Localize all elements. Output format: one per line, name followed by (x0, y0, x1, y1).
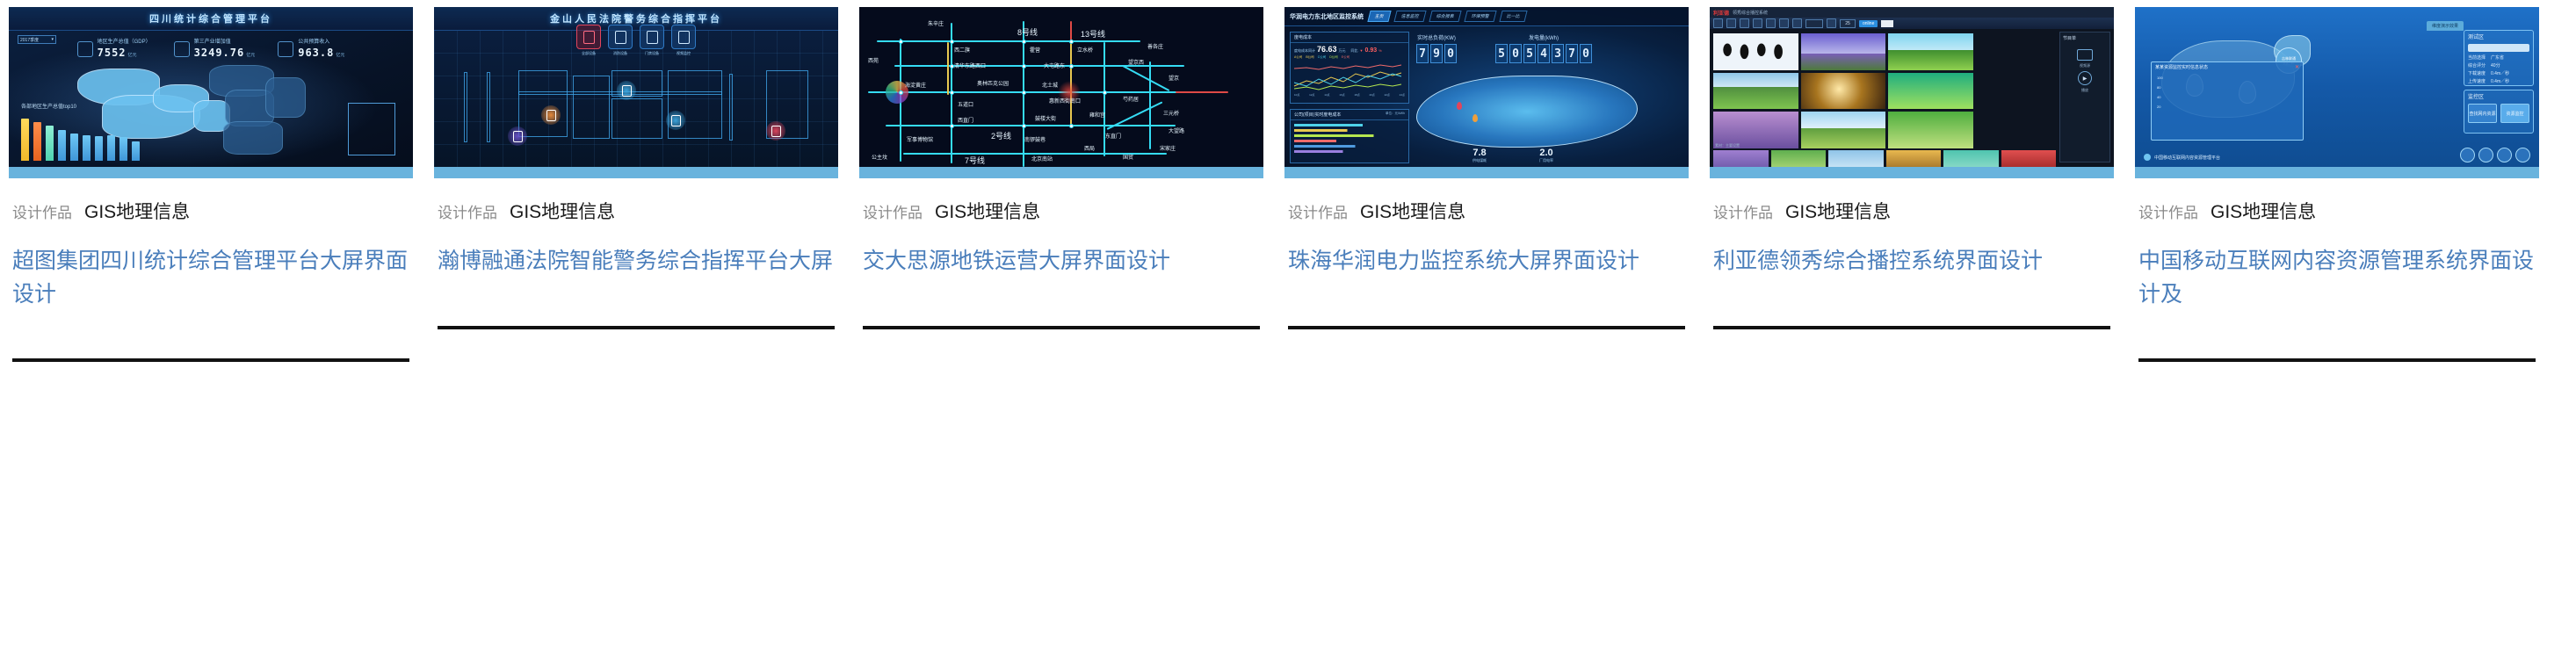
station-label: 三元桥 (1163, 109, 1179, 117)
tab-compare[interactable]: 比一比 (1499, 11, 1527, 22)
province-south (223, 121, 283, 155)
card-title-link[interactable]: 利亚德领秀综合播控系统界面设计 (1713, 245, 2110, 278)
dashboard-title: 金山人民法院警务综合指挥平台 (550, 11, 722, 25)
card-caption: 设计作品 GIS地理信息 中国移动互联网内容资源管理系统界面设计及 (2135, 178, 2539, 362)
station-label: 清华东路西口 (954, 61, 986, 69)
bar (95, 136, 103, 161)
metro-operations-map: 朱辛庄 8号线 13号线 西二旗 霍营 立水桥 善各庄 西苑 清华东路西口 大屯… (859, 7, 1263, 178)
bar (107, 135, 115, 161)
province-east (265, 77, 306, 118)
station-dot (950, 90, 954, 95)
card-category-label[interactable]: GIS地理信息 (1360, 198, 1465, 224)
kpi-gdp-value: 7552 (98, 47, 127, 59)
help-button[interactable] (2515, 148, 2530, 162)
x-tick: 12点 (1309, 93, 1314, 97)
progress-bar (1294, 140, 1405, 142)
kpi-budget-label: 公共预算收入 (298, 37, 344, 45)
filter-all-devices[interactable]: 全部设备 (576, 25, 601, 49)
map-pin (1457, 102, 1462, 110)
station-label: 西局 (1084, 144, 1095, 152)
video-tile-green[interactable] (1888, 112, 1973, 148)
station-label: 国贸 (1123, 153, 1133, 161)
bar (83, 135, 90, 161)
resource-monitor-label: 资源监控 (2506, 111, 2523, 117)
station-label: 雍和宫 (1089, 111, 1105, 119)
power-dashboard-title: 华润电力东北地区监控系统 (1290, 12, 1364, 21)
bar (132, 141, 140, 161)
kpi-generation: 发电量(kWh) 505 4370 (1495, 33, 1592, 63)
row-label: 下载速度 (2468, 70, 2486, 76)
realtime-panel-title: 公司(项目)实时度电成本 (1294, 112, 1341, 118)
cmcc-content-resource-system: 维度演示效果 吉林联通 节点：6C 某某资源监控实时信息状态 ✕ (2135, 7, 2539, 178)
card-divider (863, 326, 1260, 329)
node-manage-button[interactable] (2478, 148, 2493, 162)
card-caption: 设计作品 GIS地理信息 利亚德领秀综合播控系统界面设计 (1710, 178, 2114, 329)
camera-marker[interactable] (508, 126, 527, 146)
cost-delta-unit: % (1378, 48, 1382, 53)
filter-fire-devices[interactable]: 消防设备 (608, 25, 633, 49)
card-kind-label: 设计作品 (863, 200, 923, 222)
project-thumbnail[interactable]: 利亚德 领秀综合播控系统 25 online (1710, 7, 2114, 178)
gdp-icon (77, 41, 93, 57)
card-kind-label: 设计作品 (438, 200, 497, 222)
bar-chart-caption: 各部地区生产总值top10 (21, 102, 76, 110)
station-dot (899, 90, 903, 95)
tab-home[interactable]: 主页 (1367, 11, 1391, 22)
door-access-icon (647, 31, 658, 44)
video-tile-mountain[interactable] (1713, 73, 1798, 110)
x-tick: 14点 (1324, 93, 1329, 97)
station-dot (950, 124, 954, 128)
card-caption: 设计作品 GIS地理信息 瀚博融通法院智能警务综合指挥平台大屏 (434, 178, 838, 329)
bar (70, 134, 78, 161)
station-label: 海淀黄庄 (905, 81, 926, 89)
export-icon[interactable] (1766, 18, 1776, 28)
fire-extinguisher-marker-2[interactable] (666, 111, 685, 130)
x-tick: 24点 (1400, 93, 1405, 97)
station-dot (1069, 40, 1074, 44)
station-dot (1069, 124, 1074, 128)
bar (33, 122, 41, 161)
program-list-panel[interactable]: 节目单 视频源 ▶ 播放 (2059, 32, 2110, 162)
line-label: 7号线 (965, 155, 985, 166)
bottom-stat-label: 供电煤耗 (1473, 158, 1487, 163)
card-kind-label: 设计作品 (2138, 200, 2198, 222)
dashboard-header: 四川统计综合管理平台 (9, 7, 413, 31)
bottom-stat-value: 7.8 (1473, 148, 1487, 158)
monitor-zone-title: 监控区 (2464, 90, 2533, 102)
card-category-label[interactable]: GIS地理信息 (1785, 198, 1891, 224)
fire-extinguisher-marker[interactable] (617, 81, 636, 100)
station-label: 西直门 (958, 116, 973, 124)
realtime-cost-panel: 公司(项目)实时度电成本 单位：元/kWh (1290, 109, 1409, 163)
legend-item: B公司 (1306, 55, 1313, 60)
card-category-label[interactable]: GIS地理信息 (510, 198, 615, 224)
video-tile-autumn[interactable] (1801, 73, 1886, 110)
station-dot (1069, 64, 1074, 69)
video-wall-toolbar: 25 online (1710, 18, 2114, 29)
card-kind-label: 设计作品 (1713, 200, 1773, 222)
project-card[interactable]: 金山人民法院警务综合指挥平台 全部设备 消防设备 门禁设备 (434, 7, 838, 362)
station-label: 公主坟 (872, 153, 887, 161)
footer-buttons (2460, 148, 2530, 162)
rows-icon[interactable] (1827, 18, 1836, 28)
bottom-stat-aux: 2.0 厂用电率 (1539, 148, 1553, 163)
map-pin (1473, 114, 1478, 122)
resource-monitor-button[interactable]: 资源监控 (2500, 104, 2529, 123)
station-label: 南锣鼓巷 (1024, 135, 1046, 143)
filter-label: 消防设备 (613, 51, 627, 56)
card-divider (1713, 326, 2110, 329)
video-wall-control-system: 利亚德 领秀综合播控系统 25 online (1710, 7, 2114, 178)
station-label: 西苑 (868, 56, 879, 64)
video-tile-field[interactable] (1801, 112, 1886, 148)
resource-manage-button[interactable] (2460, 148, 2475, 162)
metro-line-yellow (947, 42, 949, 95)
digit: 0 (1580, 44, 1592, 63)
project-card[interactable]: 利亚德 领秀综合播控系统 25 online (1710, 7, 2114, 362)
kpi-gdp-label: 地区生产总值（GDP） (98, 37, 151, 45)
station-label: 善各庄 (1147, 42, 1163, 50)
legend-item: D公司 (1329, 55, 1338, 60)
save-icon[interactable] (1713, 18, 1723, 28)
wall-room (518, 70, 568, 137)
power-monitoring-dashboard: 华润电力东北地区监控系统 主页 信息监控 综合报表 环保预警 比一比 度电成本 … (1284, 7, 1689, 178)
app-title: 领秀综合播控系统 (1733, 10, 1768, 16)
filter-label: 全部设备 (582, 51, 596, 56)
kpi-row: 地区生产总值（GDP） 7552亿元 第三产业增加值 3249.76亿元 (9, 37, 413, 61)
station-label: 芍药居 (1123, 95, 1139, 103)
station-label: 西二旗 (954, 46, 970, 54)
card-title-link[interactable]: 中国移动互联网内容资源管理系统界面设计及 (2138, 245, 2536, 311)
project-thumbnail[interactable]: 华润电力东北地区监控系统 主页 信息监控 综合报表 环保预警 比一比 度电成本 … (1284, 7, 1689, 178)
all-devices-icon (583, 31, 595, 44)
find-resource-label: 查找网内资源 (2469, 111, 2495, 117)
x-tick: 22点 (1385, 93, 1390, 97)
duplicate-icon[interactable] (1753, 18, 1762, 28)
digit: 4 (1538, 44, 1550, 63)
digit: 9 (1430, 44, 1443, 63)
card-divider (1288, 326, 1685, 329)
program-item-label: 播放 (2081, 88, 2088, 93)
digit: 7 (1416, 44, 1429, 63)
thumbnail-footer-bar (1710, 167, 2114, 178)
line-label: 2号线 (991, 130, 1011, 141)
x-tick: 20点 (1369, 93, 1374, 97)
wall-segment (729, 74, 733, 141)
metro-line (1149, 61, 1151, 149)
thumbnail-footer-bar (859, 167, 1263, 178)
thumbnail-footer-bar (9, 167, 413, 178)
kpi-gen-label: 发电量(kWh) (1495, 33, 1592, 41)
station-dot (1022, 90, 1026, 95)
program-item-label: 视频源 (2080, 63, 2090, 69)
station-dot (899, 40, 903, 44)
progress-bar (1294, 129, 1405, 132)
kpi-budget-value: 963.8 (298, 47, 334, 59)
row-value: 40分 (2491, 62, 2500, 69)
station-dot (950, 40, 954, 44)
station-dot (1022, 64, 1026, 69)
align-icon[interactable] (1792, 18, 1802, 28)
realtime-panel-unit: 单位：元/kWh (1386, 112, 1405, 118)
layout-icon[interactable] (1726, 18, 1736, 28)
video-wall-canvas[interactable] (1713, 33, 1973, 148)
dialog-title: 某某资源监控实时信息状态 (2155, 64, 2208, 70)
digit: 5 (1495, 44, 1508, 63)
row-label: 上传速度 (2468, 78, 2486, 84)
power-header: 华润电力东北地区监控系统 主页 信息监控 综合报表 环保预警 比一比 (1284, 7, 1689, 26)
kpi-budget-unit: 亿元 (336, 53, 344, 58)
card-kind-label: 设计作品 (1288, 200, 1348, 222)
project-thumbnail[interactable]: 四川统计综合管理平台 2017季度 ▾ 地区生产总值（GDP） 7552亿元 (9, 7, 413, 178)
kpi-gdp-unit: 亿元 (128, 53, 137, 58)
station-label: 军事博物馆 (907, 135, 933, 143)
kpi-tertiary-unit: 亿元 (246, 53, 255, 58)
station-dot (950, 64, 954, 69)
station-dot (1022, 40, 1026, 44)
station-label: 望京西 (1128, 58, 1144, 66)
video-tile-lavender[interactable] (1801, 33, 1886, 70)
close-icon[interactable]: ✕ (2295, 64, 2299, 70)
card-category-label[interactable]: GIS地理信息 (935, 198, 1040, 224)
brand-label: 利亚德 (1713, 9, 1729, 17)
door-access-marker[interactable] (541, 105, 561, 125)
cost-metric-label: 度电成本同计 (1294, 48, 1315, 54)
wall-room (611, 98, 662, 139)
arrow-down-icon: ▼ (1360, 48, 1364, 53)
status-badge: online (1859, 20, 1878, 27)
card-caption: 设计作品 GIS地理信息 珠海华润电力监控系统大屏界面设计 (1284, 178, 1689, 329)
kpi-tertiary: 第三产业增加值 3249.76亿元 (174, 37, 256, 61)
station-label: 霍营 (1030, 46, 1040, 54)
cost-metric-value: 76.63 (1317, 45, 1337, 54)
tab-env-alert[interactable]: 环保预警 (1464, 11, 1496, 22)
station-label: 大望路 (1169, 126, 1184, 134)
line-label: 13号线 (1081, 28, 1105, 40)
wall-segment (464, 72, 467, 142)
station-label: 大屯路东 (1044, 61, 1065, 69)
card-category-label[interactable]: GIS地理信息 (84, 198, 190, 224)
station-dot (1022, 124, 1026, 128)
test-zone-panel: 测试区 当前选择广东省 综合评分40分 下载速度0.4m／秒 上传速度0.4m／… (2464, 30, 2534, 86)
station-label: 鼓楼大街 (1035, 114, 1056, 122)
budget-icon (278, 41, 293, 57)
copy-icon[interactable] (1740, 18, 1749, 28)
project-thumbnail[interactable]: 维度演示效果 吉林联通 节点：6C 某某资源监控实时信息状态 ✕ (2135, 7, 2539, 178)
row-label: 综合评分 (2468, 62, 2486, 69)
metro-line-red (1176, 91, 1228, 93)
card-divider (12, 358, 409, 362)
y-tick: 100 (2157, 76, 2297, 80)
station-label: 朱辛庄 (928, 19, 944, 27)
card-caption: 设计作品 GIS地理信息 超图集团四川统计综合管理平台大屏界面设计 (9, 178, 413, 362)
video-tile-dancers[interactable] (1713, 33, 1798, 70)
project-card[interactable]: 四川统计综合管理平台 2017季度 ▾ 地区生产总值（GDP） 7552亿元 (9, 7, 413, 362)
bar (119, 137, 127, 161)
metro-line (868, 91, 1193, 93)
tab-reports[interactable]: 综合报表 (1429, 11, 1461, 22)
station-label: 北京南站 (1031, 155, 1053, 162)
tab-info-monitor[interactable]: 信息监控 (1393, 11, 1426, 22)
cost-metric-unit: 万元 (1339, 48, 1346, 54)
video-tile-music[interactable] (1888, 73, 1973, 110)
court-command-dashboard: 金山人民法院警务综合指挥平台 全部设备 消防设备 门禁设备 (434, 7, 838, 178)
device-filter-buttons: 全部设备 消防设备 门禁设备 视频监控 (434, 25, 838, 49)
footer-title: 中国移动互联网内容资源管理平台 (2154, 155, 2220, 161)
filter-label: 门禁设备 (645, 51, 659, 56)
zoom-value[interactable]: 25 (1840, 19, 1856, 28)
digit: 0 (1444, 44, 1457, 63)
project-thumbnail[interactable]: 金山人民法院警务综合指挥平台 全部设备 消防设备 门禁设备 (434, 7, 838, 178)
test-zone-title: 测试区 (2464, 31, 2533, 42)
digit: 7 (1566, 44, 1578, 63)
row-value: 0.4m／秒 (2491, 70, 2509, 76)
kpi-tertiary-value: 3249.76 (194, 47, 245, 59)
station-label: 五道口 (958, 100, 973, 108)
card-title-link[interactable]: 瀚博融通法院智能警务综合指挥平台大屏 (438, 245, 835, 278)
fire-extinguisher-icon (615, 31, 626, 44)
filter-door-devices[interactable]: 门禁设备 (640, 25, 664, 49)
station-dot (1103, 90, 1107, 95)
cost-trend-chart (1291, 60, 1405, 93)
metro-line (1123, 65, 1170, 91)
wall-segment (487, 72, 490, 142)
south-sea-inset-map (348, 103, 395, 155)
filter-camera-devices[interactable]: 视频监控 (671, 25, 696, 49)
cost-trend-panel: 度电成本 度电成本同计 76.63 万元 同比 ▼ 0.93 % A公司 B公司… (1290, 32, 1409, 104)
kpi-tertiary-label: 第三产业增加值 (194, 37, 256, 45)
thumbnail-footer-bar (2135, 167, 2539, 178)
station-label: 北土城 (1042, 81, 1058, 89)
video-wall-titlebar: 利亚德 领秀综合播控系统 (1710, 7, 2114, 18)
bar (21, 119, 29, 161)
station-label: 宋家庄 (1160, 144, 1176, 152)
card-category-label[interactable]: GIS地理信息 (2211, 198, 2316, 224)
bottom-stat-coal: 7.8 供电煤耗 (1473, 148, 1487, 163)
play-icon[interactable]: ▶ (2078, 71, 2092, 85)
test-zone-input[interactable] (2468, 44, 2529, 52)
cost-delta-value: 0.93 (1365, 47, 1378, 54)
station-label: 惠新西街南口 (1049, 97, 1081, 105)
digit: 5 (1523, 44, 1536, 63)
digit: 3 (1552, 44, 1564, 63)
project-card[interactable]: 朱辛庄 8号线 13号线 西二旗 霍营 立水桥 善各庄 西苑 清华东路西口 大屯… (859, 7, 1263, 362)
find-resource-button[interactable]: 查找网内资源 (2468, 104, 2497, 123)
cost-delta-label: 同比 (1351, 48, 1358, 54)
program-panel-title: 节目单 (2060, 32, 2109, 44)
kpi-gdp: 地区生产总值（GDP） 7552亿元 (77, 37, 151, 61)
kpi-load-label: 实时总负荷(KW) (1416, 33, 1457, 41)
project-card[interactable]: 维度演示效果 吉林联通 节点：6C 某某资源监控实时信息状态 ✕ (2135, 7, 2539, 362)
cost-panel-title: 度电成本 (1291, 32, 1408, 43)
x-tick: 16点 (1339, 93, 1344, 97)
progress-bar (1294, 124, 1405, 126)
card-kind-label: 设计作品 (12, 200, 72, 222)
footer-brand: 中国移动互联网内容资源管理平台 (2144, 154, 2220, 161)
monitor-zone-panel: 监控区 查找网内资源 资源监控 (2464, 90, 2534, 134)
bar (46, 126, 54, 161)
value-field[interactable] (1805, 19, 1823, 28)
bottom-stat-label: 厂用电率 (1539, 158, 1553, 163)
camera-icon (678, 31, 690, 44)
x-tick: 18点 (1354, 93, 1359, 97)
resource-monitor-dialog[interactable]: 某某资源监控实时信息状态 ✕ 100 80 40 20 (2151, 61, 2304, 141)
card-divider (2138, 358, 2536, 362)
y-tick: 20 (2157, 105, 2297, 109)
card-title-link[interactable]: 珠海华润电力监控系统大屏界面设计 (1288, 245, 1685, 278)
progress-bar (1294, 150, 1405, 153)
digit: 0 (1509, 44, 1522, 63)
progress-bar (1294, 134, 1405, 137)
video-source-icon[interactable] (2077, 49, 2093, 61)
tab-dimension-demo[interactable]: 维度演示效果 (2427, 21, 2464, 31)
top10-bar-chart (21, 115, 140, 161)
legend-item: E公司 (1342, 55, 1350, 60)
row-label: 当前选择 (2468, 54, 2486, 61)
card-title-link[interactable]: 交大思源地铁运营大屏界面设计 (863, 245, 1260, 278)
wall-room (573, 76, 610, 139)
project-card-grid: 四川统计综合管理平台 2017季度 ▾ 地区生产总值（GDP） 7552亿元 (0, 0, 2576, 362)
y-tick: 40 (2157, 95, 2297, 99)
color-swatch[interactable] (1881, 20, 1893, 27)
thumbnail-footer-bar (434, 167, 838, 178)
station-label: 奥林匹克公园 (977, 79, 1009, 87)
metro-line (886, 125, 1176, 126)
x-tick: 10点 (1294, 93, 1299, 97)
y-tick: 80 (2157, 85, 2297, 90)
metro-line (877, 40, 1140, 42)
card-divider (438, 326, 835, 329)
row-value: 0.4m／秒 (2491, 78, 2509, 84)
bar (58, 130, 66, 161)
station-label: 望京 (1169, 74, 1179, 82)
card-title-link[interactable]: 超图集团四川统计综合管理平台大屏界面设计 (12, 245, 409, 311)
progress-bar (1294, 145, 1405, 148)
filter-label: 视频监控 (677, 51, 691, 56)
line-label: 8号线 (1017, 26, 1038, 38)
alarm-marker[interactable] (766, 121, 785, 141)
legend-item: A公司 (1294, 55, 1302, 60)
thumbnail-footer-bar (1284, 167, 1689, 178)
legend-item: C公司 (1318, 55, 1327, 60)
project-thumbnail[interactable]: 朱辛庄 8号线 13号线 西二旗 霍营 立水桥 善各庄 西苑 清华东路西口 大屯… (859, 7, 1263, 178)
row-value: 广东省 (2491, 54, 2504, 61)
floorplan-walls (457, 69, 815, 162)
card-caption: 设计作品 GIS地理信息 交大思源地铁运营大屏界面设计 (859, 178, 1263, 329)
system-settings-button[interactable] (2497, 148, 2512, 162)
tertiary-icon (174, 41, 190, 57)
strip-label: 素材：主要设置 (1715, 143, 1740, 148)
kpi-load: 实时总负荷(KW) 790 (1416, 33, 1457, 63)
station-label: 立水桥 (1077, 46, 1093, 54)
cmcc-logo-icon (2144, 154, 2151, 161)
dashboard-title: 四川统计综合管理平台 (149, 11, 272, 25)
video-tile-beach[interactable] (1888, 33, 1973, 70)
grid-icon[interactable] (1779, 18, 1789, 28)
bottom-stat-value: 2.0 (1539, 148, 1553, 158)
station-label: 东直门 (1105, 132, 1121, 140)
metro-map-background: 朱辛庄 8号线 13号线 西二旗 霍营 立水桥 善各庄 西苑 清华东路西口 大屯… (859, 7, 1263, 167)
kpi-budget: 公共预算收入 963.8亿元 (278, 37, 344, 61)
project-card[interactable]: 华润电力东北地区监控系统 主页 信息监控 综合报表 环保预警 比一比 度电成本 … (1284, 7, 1689, 362)
sichuan-statistics-dashboard: 四川统计综合管理平台 2017季度 ▾ 地区生产总值（GDP） 7552亿元 (9, 7, 413, 178)
